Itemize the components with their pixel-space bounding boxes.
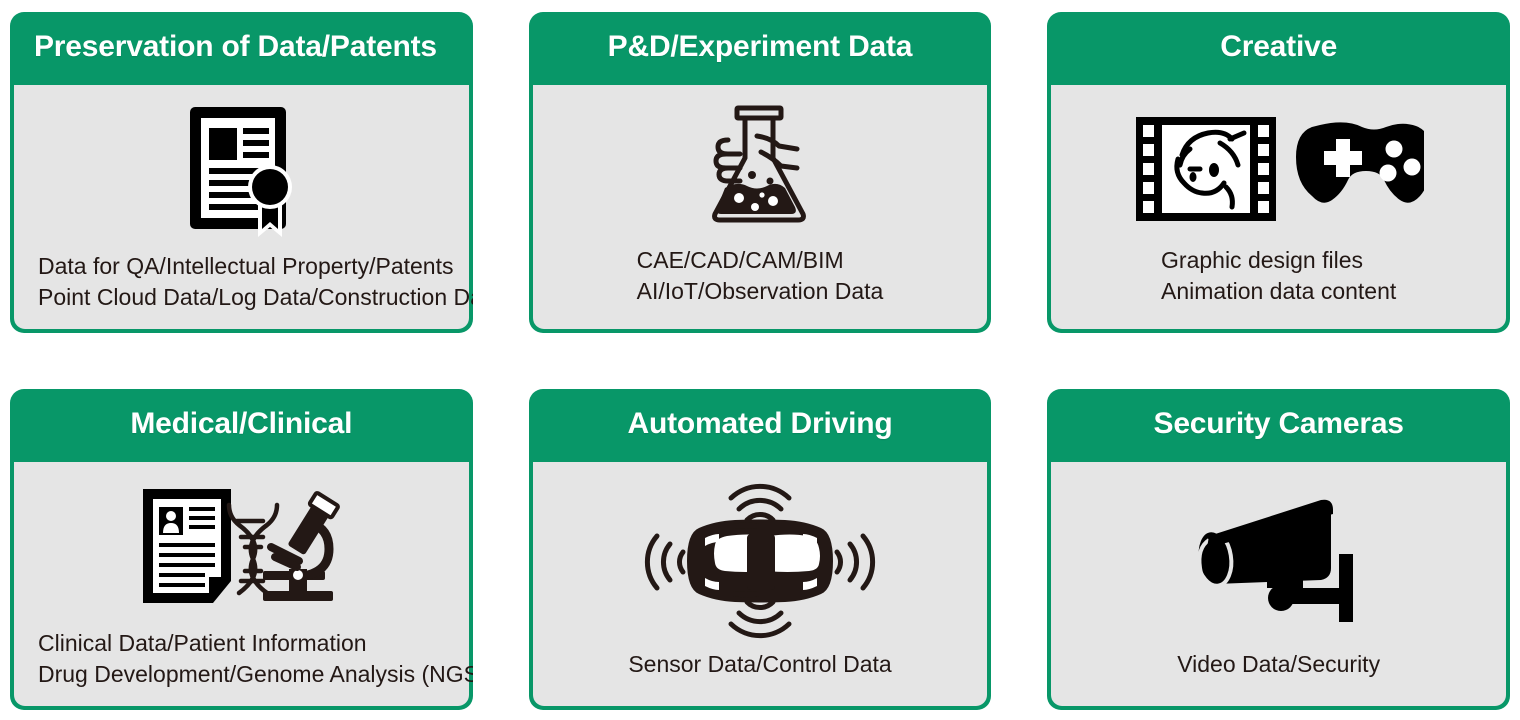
card-medical-clinical[interactable]: Medical/Clinical xyxy=(10,389,473,710)
card-title: Medical/Clinical xyxy=(10,389,473,462)
hand-holding-flask-icon xyxy=(695,102,825,238)
camera-mount-arm xyxy=(1285,588,1347,604)
caption-line: Clinical Data/Patient Information xyxy=(38,628,473,659)
icon-container xyxy=(547,95,974,245)
card-caption: Video Data/Security xyxy=(1177,649,1380,680)
card-caption: CAE/CAD/CAM/BIM AI/IoT/Observation Data xyxy=(637,245,884,307)
icon-container xyxy=(34,95,457,251)
card-title: Creative xyxy=(1047,12,1510,85)
caption-line: AI/IoT/Observation Data xyxy=(637,276,884,307)
icon-container xyxy=(34,472,455,628)
sensor-wave-top xyxy=(731,486,789,520)
card-body: Clinical Data/Patient Information Drug D… xyxy=(14,462,469,706)
caption-line: Graphic design files xyxy=(1161,245,1396,276)
card-title: Preservation of Data/Patents xyxy=(10,12,473,85)
microscope-icon xyxy=(263,493,339,602)
car-top-view xyxy=(687,519,833,602)
card-body: Data for QA/Intellectual Property/Patent… xyxy=(14,85,469,329)
caption-line: Animation data content xyxy=(1161,276,1396,307)
card-body: Sensor Data/Control Data xyxy=(533,462,988,706)
category-card-grid: Preservation of Data/Patents xyxy=(0,0,1520,720)
card-creative[interactable]: Creative xyxy=(1047,12,1510,333)
card-security-cameras[interactable]: Security Cameras xyxy=(1047,389,1510,710)
card-automated-driving[interactable]: Automated Driving xyxy=(529,389,992,710)
caption-line: Drug Development/Genome Analysis (NGS) xyxy=(38,659,473,690)
film-frame-icon xyxy=(1136,117,1276,221)
cctv-camera-icon xyxy=(1181,492,1377,630)
caption-line: Data for QA/Intellectual Property/Patent… xyxy=(38,251,473,282)
card-body: CAE/CAD/CAM/BIM AI/IoT/Observation Data xyxy=(533,85,988,329)
card-title: P&D/Experiment Data xyxy=(529,12,992,85)
caption-line: CAE/CAD/CAM/BIM xyxy=(637,245,884,276)
gamepad-icon xyxy=(1296,123,1424,203)
film-frame-and-gamepad-icon xyxy=(1134,115,1424,225)
sensor-wave-bottom xyxy=(731,602,789,636)
card-preservation-of-data-patents[interactable]: Preservation of Data/Patents xyxy=(10,12,473,333)
icon-container xyxy=(547,472,974,649)
sensor-wave-left xyxy=(647,536,683,588)
card-pd-experiment-data[interactable]: P&D/Experiment Data xyxy=(529,12,992,333)
card-caption: Clinical Data/Patient Information Drug D… xyxy=(38,628,473,690)
caption-line: Sensor Data/Control Data xyxy=(628,649,891,680)
sensor-wave-right xyxy=(837,536,873,588)
icon-container xyxy=(1065,472,1492,649)
card-title: Security Cameras xyxy=(1047,389,1510,462)
caption-line: Point Cloud Data/Log Data/Construction D… xyxy=(38,282,473,313)
patient-chart-dna-microscope-icon xyxy=(139,485,349,615)
card-caption: Data for QA/Intellectual Property/Patent… xyxy=(38,251,473,313)
patent-document-seal-icon xyxy=(186,103,304,243)
car-with-sensor-waves-icon xyxy=(637,482,883,640)
card-caption: Sensor Data/Control Data xyxy=(628,649,891,680)
card-body: Graphic design files Animation data cont… xyxy=(1051,85,1506,329)
card-body: Video Data/Security xyxy=(1051,462,1506,706)
card-title: Automated Driving xyxy=(529,389,992,462)
caption-line: Video Data/Security xyxy=(1177,649,1380,680)
icon-container xyxy=(1065,95,1492,245)
patient-chart-icon xyxy=(143,489,231,603)
card-caption: Graphic design files Animation data cont… xyxy=(1161,245,1396,307)
